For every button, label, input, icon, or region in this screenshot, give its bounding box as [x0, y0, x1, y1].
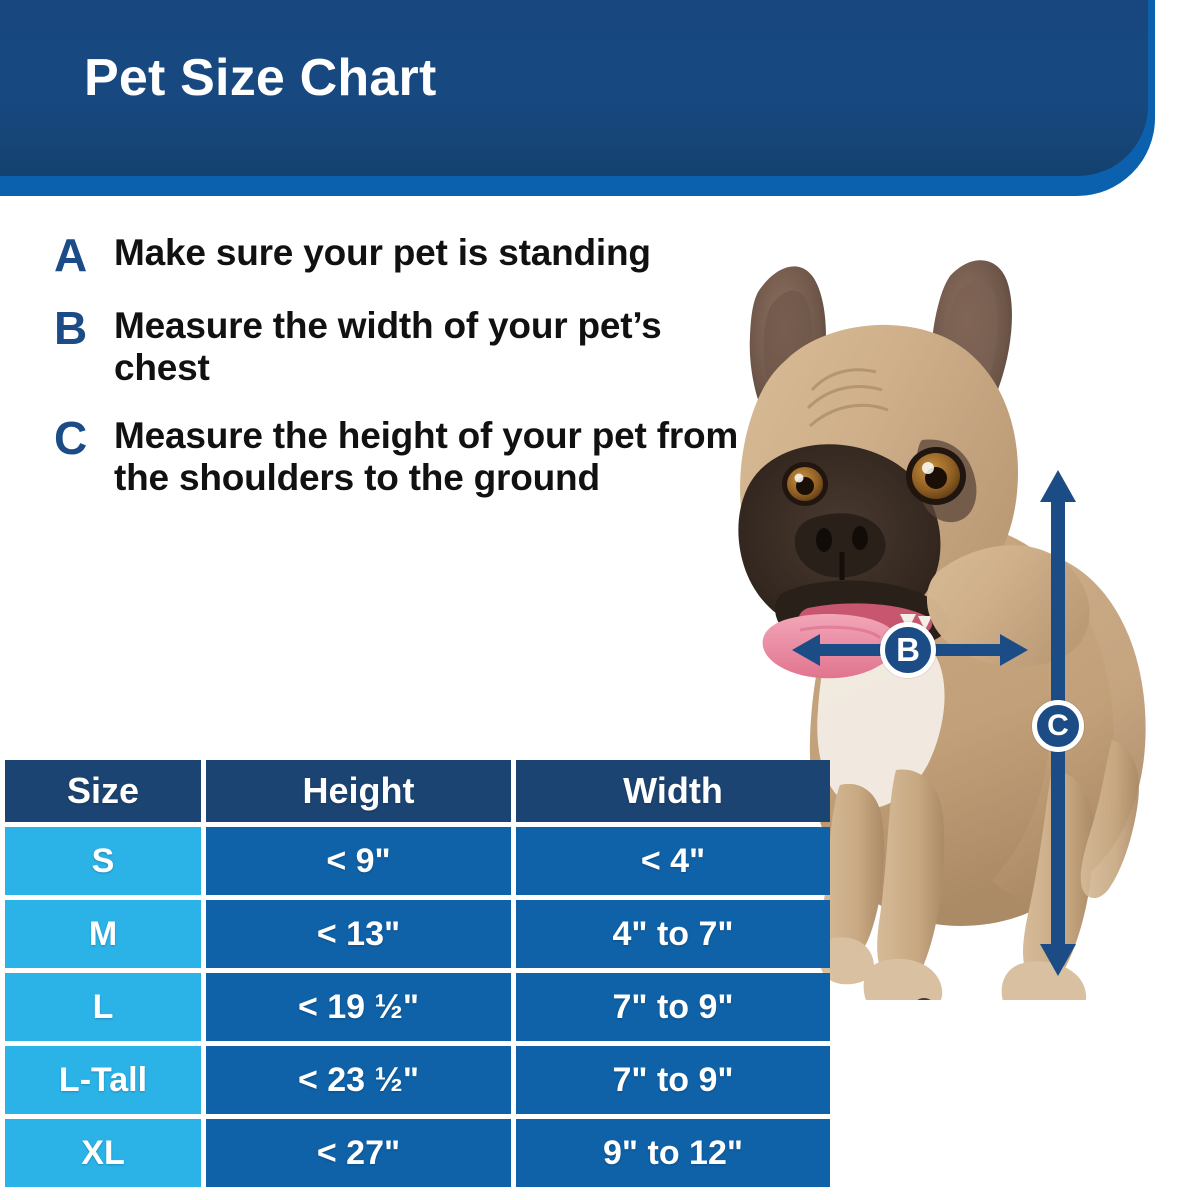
instruction-letter-a: A: [42, 232, 114, 279]
instruction-text-c: Measure the height of your pet from the …: [114, 415, 742, 499]
table-row: L < 19 ½" 7" to 9": [5, 973, 830, 1041]
measure-badge-b: B: [880, 622, 936, 678]
column-header-width: Width: [516, 760, 830, 822]
dog-front-legs: [819, 769, 944, 1000]
instruction-item-c: C Measure the height of your pet from th…: [42, 415, 742, 499]
table-row: L-Tall < 23 ½" 7" to 9": [5, 1046, 830, 1114]
cell-width: 7" to 9": [516, 973, 830, 1041]
cell-width: 4" to 7": [516, 900, 830, 968]
table-row: S < 9" < 4": [5, 827, 830, 895]
cell-height: < 27": [206, 1119, 511, 1187]
cell-width: < 4": [516, 827, 830, 895]
measure-badge-c: C: [1032, 700, 1084, 752]
pet-size-chart-page: Pet Size Chart: [0, 0, 1200, 1200]
dog-nose: [795, 513, 886, 580]
instruction-text-b: Measure the width of your pet’s chest: [114, 305, 742, 389]
instruction-text-a: Make sure your pet is standing: [114, 232, 651, 274]
dog-body: [810, 523, 1146, 926]
table-row: XL < 27" 9" to 12": [5, 1119, 830, 1187]
dog-head: [738, 260, 1018, 678]
instruction-letter-c: C: [42, 415, 114, 462]
column-header-size: Size: [5, 760, 201, 822]
cell-size: M: [5, 900, 201, 968]
page-title: Pet Size Chart: [84, 52, 436, 104]
cell-size: XL: [5, 1119, 201, 1187]
dog-eyes: [782, 447, 966, 506]
cell-height: < 23 ½": [206, 1046, 511, 1114]
instruction-letter-b: B: [42, 305, 114, 352]
instruction-item-b: B Measure the width of your pet’s chest: [42, 305, 742, 389]
cell-height: < 13": [206, 900, 511, 968]
instructions-list: A Make sure your pet is standing B Measu…: [42, 232, 742, 526]
cell-size: S: [5, 827, 201, 895]
cell-width: 7" to 9": [516, 1046, 830, 1114]
cell-height: < 9": [206, 827, 511, 895]
cell-size: L-Tall: [5, 1046, 201, 1114]
instruction-item-a: A Make sure your pet is standing: [42, 232, 742, 279]
column-header-height: Height: [206, 760, 511, 822]
size-table: Size Height Width S < 9" < 4" M < 13" 4"…: [0, 755, 835, 1192]
cell-height: < 19 ½": [206, 973, 511, 1041]
table-header-row: Size Height Width: [5, 760, 830, 822]
cell-width: 9" to 12": [516, 1119, 830, 1187]
cell-size: L: [5, 973, 201, 1041]
table-row: M < 13" 4" to 7": [5, 900, 830, 968]
